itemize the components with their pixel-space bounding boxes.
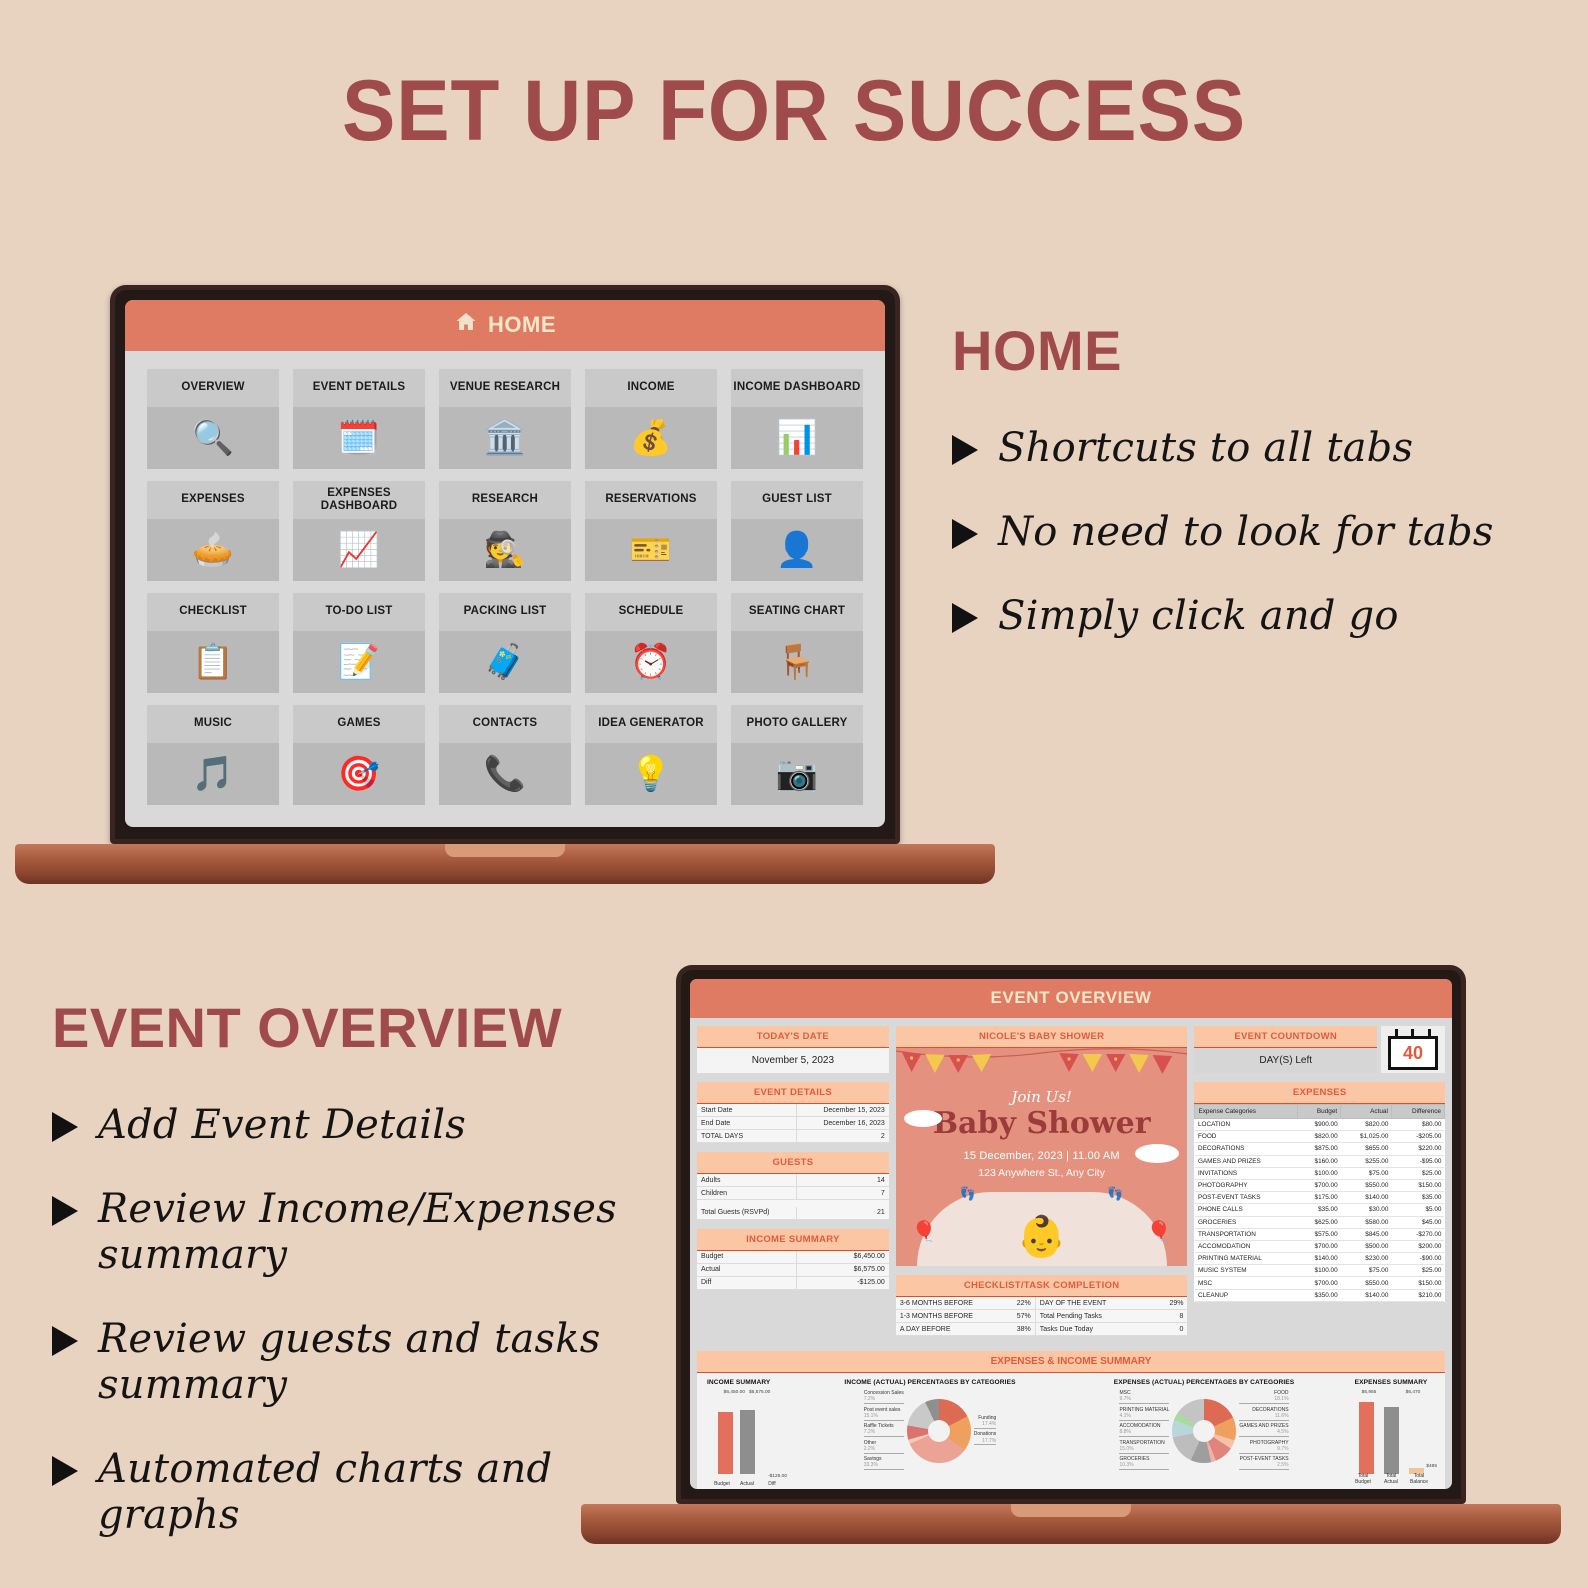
luggage-icon: 🧳 (439, 631, 571, 693)
home-tile-music[interactable]: MUSIC🎵 (147, 705, 279, 805)
summary-strip: EXPENSES & INCOME SUMMARY INCOME SUMMARY… (697, 1351, 1445, 1489)
bullet-text: Add Event Details (98, 1102, 466, 1148)
expense-category: MUSIC SYSTEM (1195, 1265, 1298, 1277)
expense-difference: $210.00 (1391, 1289, 1444, 1301)
dartboard-icon: 🎯 (293, 743, 425, 805)
countdown-label: DAY(S) Left (1194, 1048, 1377, 1073)
expenses-donut (1172, 1399, 1236, 1463)
camera-icon: 📷 (731, 743, 863, 805)
expense-actual: $550.00 (1341, 1179, 1392, 1191)
table-row: TOTAL DAYS2 (697, 1130, 889, 1143)
triangle-bullet-icon (52, 1326, 78, 1356)
donut-label-percent: 2.5% (1239, 1462, 1288, 1468)
guests-table: Adults14Children7Total Guests (RSVPd)21 (697, 1174, 889, 1220)
expense-category: FOOD (1195, 1131, 1298, 1143)
home-tile-contacts[interactable]: CONTACTS📞 (439, 705, 571, 805)
donut-label: Savings33.3% (864, 1456, 904, 1470)
expense-actual: $550.00 (1341, 1277, 1392, 1289)
bunting-icon (896, 1048, 1188, 1078)
tile-label: VENUE RESEARCH (439, 369, 571, 407)
checklist-title: CHECKLIST/TASK COMPLETION (896, 1275, 1188, 1297)
donut-label-percent: 17.7% (974, 1438, 997, 1444)
expense-category: PHONE CALLS (1195, 1204, 1298, 1216)
donut-label-name: Donations (974, 1431, 997, 1437)
donut-label-name: Post event sales (864, 1407, 904, 1413)
tile-label: PACKING LIST (439, 593, 571, 631)
expense-category: PRINTING MATERIAL (1195, 1253, 1298, 1265)
donut-label-percent: 18.1% (1239, 1396, 1288, 1402)
expense-difference: $150.00 (1391, 1277, 1444, 1289)
bar-value-label: $6,470 (1406, 1390, 1421, 1395)
table-row: FOOD$820.00$1,025.00-$205.00 (1195, 1131, 1445, 1143)
row-value-2: 29% (1143, 1297, 1187, 1310)
summary-strip-title: EXPENSES & INCOME SUMMARY (697, 1351, 1445, 1373)
expense-category: PHOTOGRAPHY (1195, 1179, 1298, 1191)
expenses-title: EXPENSES (1194, 1082, 1445, 1104)
expense-category: LOCATION (1195, 1119, 1298, 1131)
overview-bullet-list: Add Event DetailsReview Income/Expenses … (52, 1102, 692, 1538)
music-notes-icon: 🎵 (147, 743, 279, 805)
row-label: Children (697, 1187, 797, 1200)
income-summary-chart: INCOME SUMMARY $6,450.00$6,575.00 -$125.… (701, 1379, 793, 1489)
checklist-pencil-icon: 📋 (147, 631, 279, 693)
todays-date-panel: TODAY'S DATE November 5, 2023 (697, 1026, 889, 1073)
cloud-shape (1135, 1144, 1179, 1163)
laptop2-notch (1011, 1504, 1131, 1517)
table-row: DECORATIONS$875.00$655.00$220.00 (1195, 1143, 1445, 1155)
laptop-lid: HOME OVERVIEW🔍EVENT DETAILS🗓️VENUE RESEA… (110, 285, 900, 844)
home-tile-expenses-dashboard[interactable]: EXPENSES DASHBOARD📈 (293, 481, 425, 581)
row-value: December 16, 2023 (797, 1117, 889, 1130)
donut-label: POST-EVENT TASKS2.5% (1239, 1456, 1288, 1470)
donut-label: Donations17.7% (974, 1431, 997, 1445)
expense-difference: -$205.00 (1391, 1131, 1444, 1143)
donut-label-percent: 15.1% (864, 1413, 904, 1419)
income-summary-panel: INCOME SUMMARY Budget$6,450.00Actual$6,5… (697, 1229, 889, 1290)
income-summary-title: INCOME SUMMARY (697, 1229, 889, 1251)
expenses-donut-chart: EXPENSES (ACTUAL) PERCENTAGES BY CATEGOR… (1067, 1379, 1341, 1489)
table-row: Start DateDecember 15, 2023 (697, 1104, 889, 1117)
row-value: 21 (797, 1207, 889, 1220)
expense-budget: $575.00 (1298, 1228, 1341, 1240)
home-screen: HOME OVERVIEW🔍EVENT DETAILS🗓️VENUE RESEA… (125, 300, 885, 827)
expense-difference: $150.00 (1391, 1179, 1444, 1191)
laptop2-base (581, 1504, 1561, 1544)
income-donut-title: INCOME (ACTUAL) PERCENTAGES BY CATEGORIE… (793, 1379, 1067, 1386)
expense-actual: $140.00 (1341, 1289, 1392, 1301)
row-value: 57% (991, 1310, 1035, 1323)
table-row: LOCATION$900.00$820.00$80.00 (1195, 1119, 1445, 1131)
row-label: Adults (697, 1174, 797, 1187)
donut-label: Raffle Tickets7.2% (864, 1423, 904, 1437)
invite-date: 15 December, 2023 | 11.00 AM (964, 1150, 1120, 1162)
balloons-icon: 🎈 (1147, 1219, 1172, 1244)
expense-category: DECORATIONS (1195, 1143, 1298, 1155)
person-magnifier-icon: 🕵️ (439, 519, 571, 581)
table-row: PRINTING MATERIAL$140.00$230.00-$90.00 (1195, 1253, 1445, 1265)
row-value: 38% (991, 1323, 1035, 1336)
invite-title: NICOLE'S BABY SHOWER (896, 1026, 1188, 1048)
table-row: 3-6 MONTHS BEFORE22%DAY OF THE EVENT29% (896, 1297, 1188, 1310)
expense-actual: $75.00 (1341, 1167, 1392, 1179)
expense-difference: $35.00 (1391, 1192, 1444, 1204)
row-value: -$125.00 (797, 1276, 889, 1289)
table-row: TRANSPORTATION$575.00$845.00-$270.00 (1195, 1228, 1445, 1240)
donut-label: PHOTOGRAPHY9.7% (1239, 1440, 1288, 1454)
home-tile-expenses[interactable]: EXPENSES🥧 (147, 481, 279, 581)
row-label: 3-6 MONTHS BEFORE (896, 1297, 991, 1310)
donut-label: ACCOMODATION8.8% (1119, 1423, 1169, 1437)
expense-difference: $45.00 (1391, 1216, 1444, 1228)
todays-date-value: November 5, 2023 (697, 1048, 889, 1073)
income-summary-table: Budget$6,450.00Actual$6,575.00Diff-$125.… (697, 1251, 889, 1290)
expense-actual: $500.00 (1341, 1240, 1392, 1252)
tile-label: OVERVIEW (147, 369, 279, 407)
table-row: 1-3 MONTHS BEFORE57%Total Pending Tasks8 (896, 1310, 1188, 1323)
expense-budget: $900.00 (1298, 1119, 1341, 1131)
expense-difference: $25.00 (1391, 1167, 1444, 1179)
house-icon (454, 310, 478, 340)
expense-budget: $35.00 (1298, 1204, 1341, 1216)
overview-block-heading: EVENT OVERVIEW (52, 995, 692, 1060)
expense-actual: $30.00 (1341, 1204, 1392, 1216)
overview-bullet-item: Review Income/Expenses summary (52, 1186, 692, 1278)
triangle-bullet-icon (952, 435, 978, 465)
tile-label: IDEA GENERATOR (585, 705, 717, 743)
bar-total-budget (1359, 1402, 1374, 1474)
tile-label: CONTACTS (439, 705, 571, 743)
bullet-text: Review guests and tasks summary (98, 1316, 692, 1408)
expense-budget: $140.00 (1298, 1253, 1341, 1265)
home-bullet-item: Shortcuts to all tabs (952, 425, 1552, 471)
table-row: MUSIC SYSTEM$100.00$75.00$25.00 (1195, 1265, 1445, 1277)
donut-label: GROCERIES10.3% (1119, 1456, 1169, 1470)
reserved-sign-icon: 🎫 (585, 519, 717, 581)
dashboard-chart-icon: 📊 (731, 407, 863, 469)
bar-value-label: $6,955 (1362, 1390, 1377, 1395)
home-tile-guest-list[interactable]: GUEST LIST👤 (731, 481, 863, 581)
row-label: Start Date (697, 1104, 797, 1117)
row-label-2: Tasks Due Today (1035, 1323, 1143, 1336)
laptop-base (15, 844, 995, 884)
table-row: Children7 (697, 1187, 889, 1200)
home-tile-schedule[interactable]: SCHEDULE⏰ (585, 593, 717, 693)
row-label-2: Total Pending Tasks (1035, 1310, 1143, 1323)
donut-label-percent: 9.7% (1239, 1446, 1288, 1452)
countdown-days: 40 (1388, 1036, 1438, 1070)
donut-label-percent: 11.6% (1239, 1413, 1288, 1419)
home-tile-photo-gallery[interactable]: PHOTO GALLERY📷 (731, 705, 863, 805)
event-details-panel: EVENT DETAILS Start DateDecember 15, 202… (697, 1082, 889, 1143)
footprint-icon: 👣 (960, 1186, 976, 1202)
home-bullet-item: No need to look for tabs (952, 509, 1552, 555)
home-tile-event-details[interactable]: EVENT DETAILS🗓️ (293, 369, 425, 469)
expense-budget: $625.00 (1298, 1216, 1341, 1228)
triangle-bullet-icon (52, 1196, 78, 1226)
bar-total-actual (1384, 1407, 1399, 1474)
expense-category: MSC (1195, 1277, 1298, 1289)
row-label: End Date (697, 1117, 797, 1130)
expense-pie-icon: 🥧 (147, 519, 279, 581)
building-icon: 🏛️ (439, 407, 571, 469)
donut-label: Other2.2% (864, 1440, 904, 1454)
donut-label-percent: 4.1% (1119, 1413, 1169, 1419)
expense-actual: $255.00 (1341, 1155, 1392, 1167)
home-tile-overview[interactable]: OVERVIEW🔍 (147, 369, 279, 469)
home-tile-income[interactable]: INCOME💰 (585, 369, 717, 469)
table-row: CLEANUP$350.00$140.00$210.00 (1195, 1289, 1445, 1301)
invite-panel: NICOLE'S BABY SHOWER (896, 1026, 1188, 1266)
tile-label: EVENT DETAILS (293, 369, 425, 407)
countdown-panel: EVENT COUNTDOWN DAY(S) Left 40 (1194, 1026, 1445, 1073)
donut-label: Concession Sales7.2% (864, 1390, 904, 1404)
expense-budget: $100.00 (1298, 1265, 1341, 1277)
bar-value-label: $6,575.00 (749, 1390, 770, 1395)
income-summary-chart-title: INCOME SUMMARY (701, 1379, 793, 1386)
donut-label: MSC9.7% (1119, 1390, 1169, 1404)
tile-label: MUSIC (147, 705, 279, 743)
bullet-text: Simply click and go (998, 593, 1399, 639)
expense-category: ACCOMODATION (1195, 1240, 1298, 1252)
home-tile-idea-generator[interactable]: IDEA GENERATOR💡 (585, 705, 717, 805)
expense-actual: $820.00 (1341, 1119, 1392, 1131)
donut-label-percent: 15.0% (1119, 1446, 1169, 1452)
tile-label: PHOTO GALLERY (731, 705, 863, 743)
table-row: ACCOMODATION$700.00$500.00$200.00 (1195, 1240, 1445, 1252)
home-tile-packing-list[interactable]: PACKING LIST🧳 (439, 593, 571, 693)
triangle-bullet-icon (952, 603, 978, 633)
expense-budget: $700.00 (1298, 1179, 1341, 1191)
tile-label: EXPENSES (147, 481, 279, 519)
laptop2-lid: EVENT OVERVIEW TODAY'S DATE November 5, … (676, 965, 1466, 1504)
donut-label: GAMES AND PRIZES4.5% (1239, 1423, 1288, 1437)
bullet-text: No need to look for tabs (998, 509, 1494, 555)
row-value-2: 8 (1143, 1310, 1187, 1323)
expenses-table: Expense CategoriesBudgetActualDifference… (1194, 1104, 1445, 1302)
home-header: HOME (125, 300, 885, 351)
pie-bar-icon: 📈 (293, 519, 425, 581)
income-donut-left-labels: Concession Sales7.2%Post event sales15.1… (864, 1390, 904, 1473)
home-header-title: HOME (488, 312, 556, 338)
expense-actual: $580.00 (1341, 1216, 1392, 1228)
expenses-summary-chart: EXPENSES SUMMARY $6,955 $6,470 $485 (1341, 1379, 1441, 1489)
expense-difference: -$90.00 (1391, 1253, 1444, 1265)
expenses-donut-title: EXPENSES (ACTUAL) PERCENTAGES BY CATEGOR… (1067, 1379, 1341, 1386)
home-tile-venue-research[interactable]: VENUE RESEARCH🏛️ (439, 369, 571, 469)
bullet-text: Review Income/Expenses summary (98, 1186, 692, 1278)
home-tile-research[interactable]: RESEARCH🕵️ (439, 481, 571, 581)
donut-label: DECORATIONS11.6% (1239, 1407, 1288, 1421)
donut-label-percent: 33.3% (864, 1462, 904, 1468)
row-label: A DAY BEFORE (896, 1323, 991, 1336)
tile-label: SCHEDULE (585, 593, 717, 631)
row-value: 2 (797, 1130, 889, 1143)
tile-label: GAMES (293, 705, 425, 743)
home-block-heading: HOME (952, 318, 1552, 383)
donut-label-name: PRINTING MATERIAL (1119, 1407, 1169, 1413)
overview-bullet-item: Add Event Details (52, 1102, 692, 1148)
expenses-panel: EXPENSES Expense CategoriesBudgetActualD… (1194, 1082, 1445, 1302)
home-tile-grid: OVERVIEW🔍EVENT DETAILS🗓️VENUE RESEARCH🏛️… (125, 351, 885, 827)
row-label: TOTAL DAYS (697, 1130, 797, 1143)
overview-feature-block: EVENT OVERVIEW Add Event DetailsReview I… (52, 995, 692, 1576)
row-value: $6,575.00 (797, 1263, 889, 1276)
table-row: GAMES AND PRIZES$160.00$255.00-$95.00 (1195, 1155, 1445, 1167)
baby-icon: 👶 (1017, 1213, 1067, 1260)
bar-diff-label: -$125.00 (701, 1474, 793, 1479)
donut-label-percent: 8.8% (1119, 1429, 1169, 1435)
home-tile-seating-chart[interactable]: SEATING CHART🪑 (731, 593, 863, 693)
donut-label: Post event sales15.1% (864, 1407, 904, 1421)
donut-label: PRINTING MATERIAL4.1% (1119, 1407, 1169, 1421)
expense-category: GROCERIES (1195, 1216, 1298, 1228)
expense-actual: $1,025.00 (1341, 1131, 1392, 1143)
table-row: Total Guests (RSVPd)21 (697, 1207, 889, 1220)
column-header: Difference (1391, 1105, 1444, 1119)
expenses-donut-left-labels: MSC9.7%PRINTING MATERIAL4.1%ACCOMODATION… (1119, 1390, 1169, 1473)
triangle-bullet-icon (52, 1112, 78, 1142)
donut-label-percent: 7.2% (864, 1396, 904, 1402)
home-tile-reservations[interactable]: RESERVATIONS🎫 (585, 481, 717, 581)
overview-laptop: EVENT OVERVIEW TODAY'S DATE November 5, … (676, 965, 1466, 1544)
invite-join-text: Join Us! (1011, 1088, 1072, 1106)
expense-actual: $230.00 (1341, 1253, 1392, 1265)
expense-budget: $175.00 (1298, 1192, 1341, 1204)
charts-row: INCOME SUMMARY $6,450.00$6,575.00 -$125.… (697, 1373, 1445, 1489)
column-header: Budget (1298, 1105, 1341, 1119)
calendar-check-icon: 🗓️ (293, 407, 425, 469)
table-row: MSC$700.00$550.00$150.00 (1195, 1277, 1445, 1289)
table-row: GROCERIES$625.00$580.00$45.00 (1195, 1216, 1445, 1228)
bar-value-label: $6,450.00 (724, 1390, 745, 1395)
tile-label: SEATING CHART (731, 593, 863, 631)
table-row: Budget$6,450.00 (697, 1251, 889, 1264)
expense-difference: $5.00 (1391, 1204, 1444, 1216)
expense-category: INVITATIONS (1195, 1167, 1298, 1179)
income-donut (907, 1399, 971, 1463)
expenses-bars (1341, 1396, 1441, 1474)
phone-mail-icon: 📞 (439, 743, 571, 805)
event-details-table: Start DateDecember 15, 2023End DateDecem… (697, 1104, 889, 1143)
overview-screen: EVENT OVERVIEW TODAY'S DATE November 5, … (690, 979, 1452, 1489)
table-row: INVITATIONS$100.00$75.00$25.00 (1195, 1167, 1445, 1179)
expense-category: POST-EVENT TASKS (1195, 1192, 1298, 1204)
expense-budget: $100.00 (1298, 1167, 1341, 1179)
guests-title: GUESTS (697, 1152, 889, 1174)
table-row: A DAY BEFORE38%Tasks Due Today0 (896, 1323, 1188, 1336)
donut-label-name: TRANSPORTATION (1119, 1440, 1169, 1446)
donut-label: TRANSPORTATION15.0% (1119, 1440, 1169, 1454)
expense-actual: $845.00 (1341, 1228, 1392, 1240)
overview-header-title: EVENT OVERVIEW (690, 979, 1452, 1018)
expense-difference: -$95.00 (1391, 1155, 1444, 1167)
income-donut-right-labels: Funding17.4%Donations17.7% (974, 1415, 997, 1448)
money-bag-icon: 💰 (585, 407, 717, 469)
magnifier-chart-icon: 🔍 (147, 407, 279, 469)
schedule-clock-icon: ⏰ (585, 631, 717, 693)
donut-label-percent: 9.7% (1119, 1396, 1169, 1402)
countdown-title: EVENT COUNTDOWN (1194, 1026, 1377, 1048)
home-tile-games[interactable]: GAMES🎯 (293, 705, 425, 805)
calendar-icon: 40 (1381, 1026, 1445, 1073)
expense-budget: $820.00 (1298, 1131, 1341, 1143)
table-row: PHOTOGRAPHY$700.00$550.00$150.00 (1195, 1179, 1445, 1191)
event-details-title: EVENT DETAILS (697, 1082, 889, 1104)
triangle-bullet-icon (52, 1456, 78, 1486)
row-label: Actual (697, 1263, 797, 1276)
expenses-bar-labels: Total Budget Total Actual Total Balance (1341, 1473, 1441, 1485)
overview-bullet-item: Review guests and tasks summary (52, 1316, 692, 1408)
row-label: Total Guests (RSVPd) (697, 1207, 797, 1220)
checklist-panel: CHECKLIST/TASK COMPLETION 3-6 MONTHS BEF… (896, 1275, 1188, 1336)
home-tile-income-dashboard[interactable]: INCOME DASHBOARD📊 (731, 369, 863, 469)
lightbulb-icon: 💡 (585, 743, 717, 805)
tile-label: EXPENSES DASHBOARD (293, 481, 425, 519)
checklist-table: 3-6 MONTHS BEFORE22%DAY OF THE EVENT29%1… (896, 1297, 1188, 1336)
triangle-bullet-icon (952, 519, 978, 549)
donut-label-percent: 2.2% (864, 1446, 904, 1452)
tile-label: RESEARCH (439, 481, 571, 519)
table-row: Adults14 (697, 1174, 889, 1187)
donut-label-percent: 4.5% (1239, 1429, 1288, 1435)
expense-category: GAMES AND PRIZES (1195, 1155, 1298, 1167)
invite-address: 123 Anywhere St., Any City (978, 1167, 1105, 1179)
footprint-icon: 👣 (1107, 1186, 1123, 1202)
donut-label-percent: 17.4% (974, 1421, 997, 1427)
tile-label: CHECKLIST (147, 593, 279, 631)
row-label: Budget (697, 1251, 797, 1264)
row-value: 14 (797, 1174, 889, 1187)
balloons-icon: 🎈 (912, 1219, 937, 1244)
expense-actual: $140.00 (1341, 1192, 1392, 1204)
expense-budget: $700.00 (1298, 1277, 1341, 1289)
table-row: PHONE CALLS$35.00$30.00$5.00 (1195, 1204, 1445, 1216)
row-value: 22% (991, 1297, 1035, 1310)
row-label: Diff (697, 1276, 797, 1289)
donut-label: FOOD18.1% (1239, 1390, 1288, 1404)
home-tile-to-do-list[interactable]: TO-DO LIST📝 (293, 593, 425, 693)
expense-budget: $350.00 (1298, 1289, 1341, 1301)
row-label: 1-3 MONTHS BEFORE (896, 1310, 991, 1323)
column-header: Expense Categories (1195, 1105, 1298, 1119)
expense-category: CLEANUP (1195, 1289, 1298, 1301)
home-tile-checklist[interactable]: CHECKLIST📋 (147, 593, 279, 693)
page-title: SET UP FOR SUCCESS (56, 62, 1533, 161)
todo-clipboard-icon: 📝 (293, 631, 425, 693)
donut-label-percent: 7.2% (864, 1429, 904, 1435)
home-laptop: HOME OVERVIEW🔍EVENT DETAILS🗓️VENUE RESEA… (110, 285, 900, 884)
table-row: POST-EVENT TASKS$175.00$140.00$35.00 (1195, 1192, 1445, 1204)
tile-label: TO-DO LIST (293, 593, 425, 631)
home-bullet-item: Simply click and go (952, 593, 1552, 639)
invite-card: Join Us! Baby Shower 15 December, 2023 |… (896, 1048, 1188, 1266)
expense-difference: $200.00 (1391, 1240, 1444, 1252)
row-value: $6,450.00 (797, 1251, 889, 1264)
expense-difference: $25.00 (1391, 1265, 1444, 1277)
home-bullet-list: Shortcuts to all tabsNo need to look for… (952, 425, 1552, 639)
table-row: Diff-$125.00 (697, 1276, 889, 1289)
income-bar-labels: Budget Actual Diff (701, 1481, 793, 1487)
expense-difference: -$270.00 (1391, 1228, 1444, 1240)
laptop-notch (445, 844, 565, 857)
table-row: End DateDecember 16, 2023 (697, 1117, 889, 1130)
donut-label: Funding17.4% (974, 1415, 997, 1429)
expenses-donut-right-labels: FOOD18.1%DECORATIONS11.6%GAMES AND PRIZE… (1239, 1390, 1288, 1473)
row-value: December 15, 2023 (797, 1104, 889, 1117)
expense-budget: $700.00 (1298, 1240, 1341, 1252)
table-row: Actual$6,575.00 (697, 1263, 889, 1276)
expenses-summary-title: EXPENSES SUMMARY (1341, 1379, 1441, 1386)
